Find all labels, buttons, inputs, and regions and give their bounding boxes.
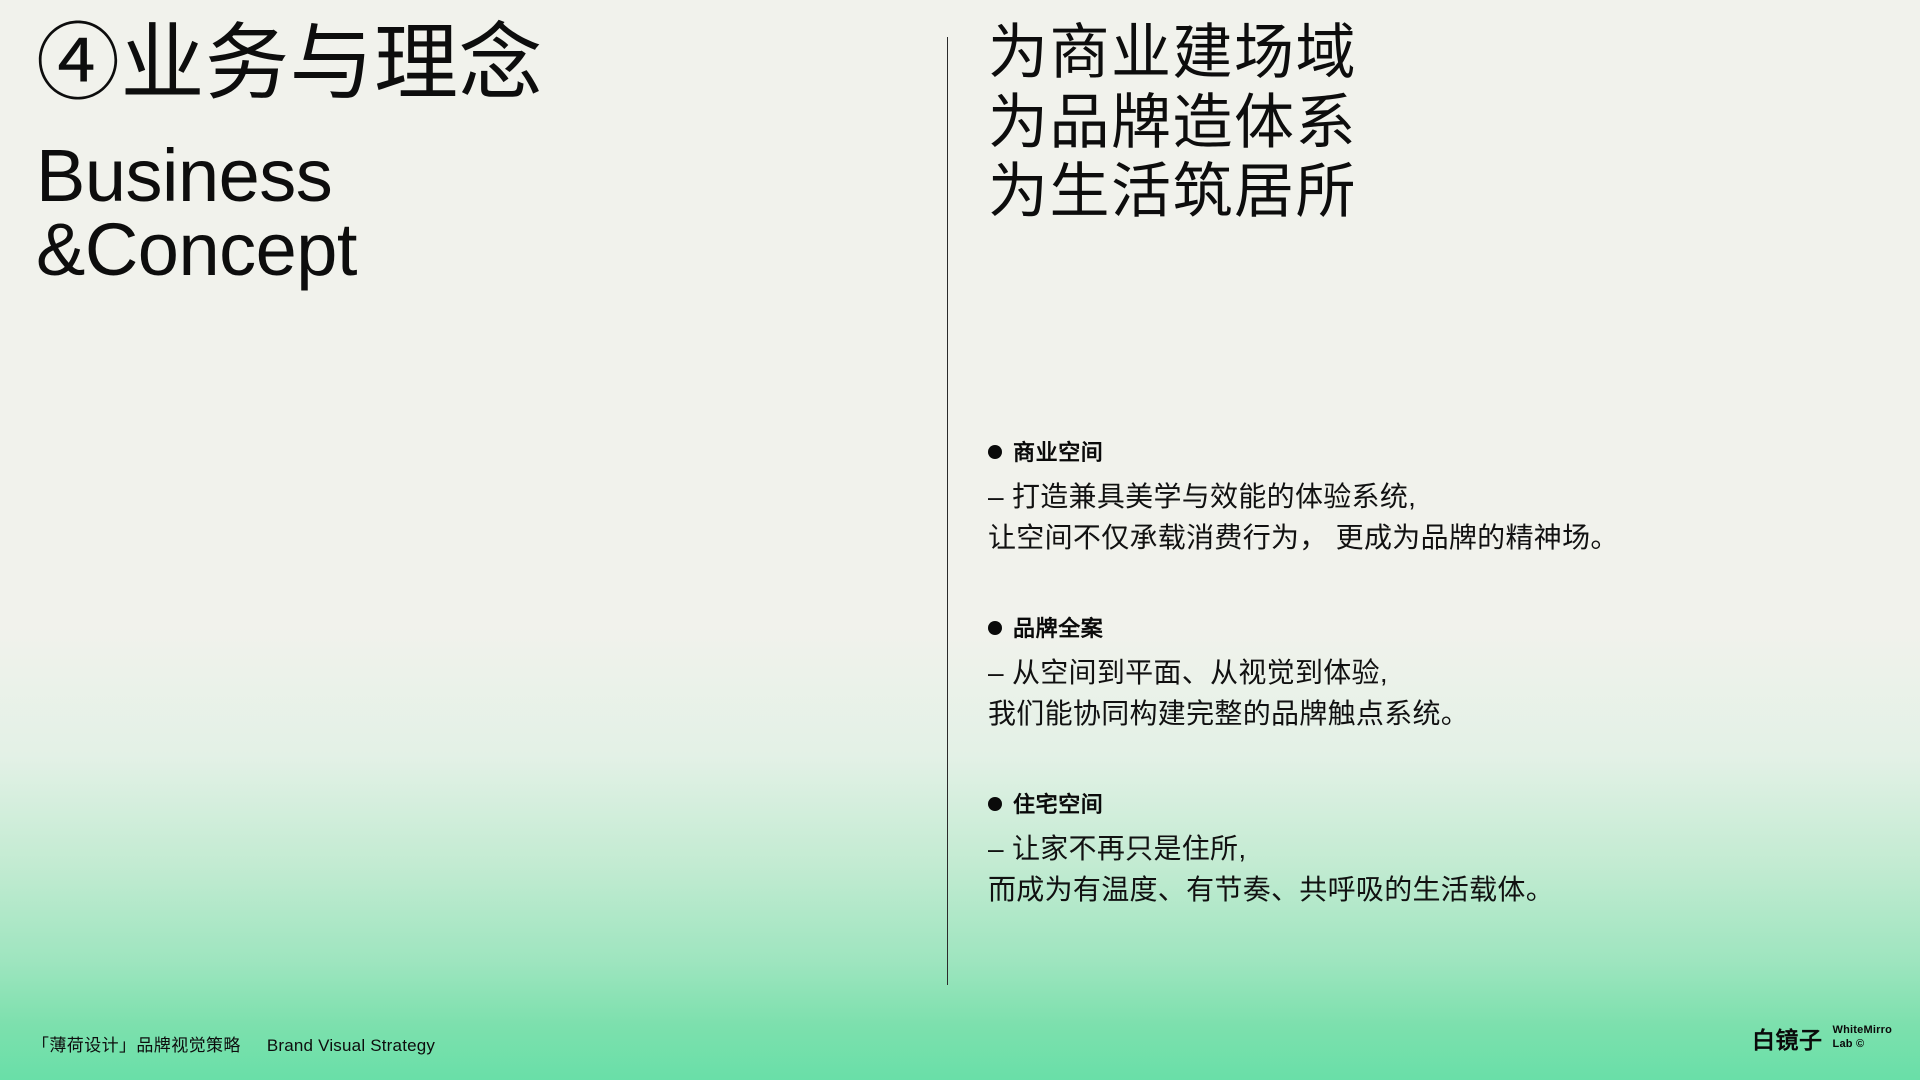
vertical-divider: [947, 37, 948, 985]
brand-logo-en-line-1: WhiteMirro: [1833, 1024, 1892, 1038]
brand-logo-cn: 白镜子: [1752, 1021, 1823, 1055]
headline-block: 为商业建场域 为品牌造体系 为生活筑居所: [988, 18, 1888, 227]
section-body-line-1: – 从空间到平面、从视觉到体验,: [988, 652, 1898, 693]
brand-logo: 白镜子 WhiteMirro Lab ©: [1752, 1021, 1892, 1055]
footer-credit-en: Brand Visual Strategy: [267, 1036, 435, 1056]
sections-list: 商业空间 – 打造兼具美学与效能的体验系统, 让空间不仅承载消费行为， 更成为品…: [988, 435, 1898, 911]
page-title-en-line-1: Business: [36, 139, 906, 213]
headline: 为商业建场域 为品牌造体系 为生活筑居所: [988, 18, 1888, 227]
section-body-line-1: – 打造兼具美学与效能的体验系统,: [988, 476, 1898, 517]
page-title-cn: ④业务与理念: [36, 18, 906, 109]
slide-canvas: ④业务与理念 Business &Concept 为商业建场域 为品牌造体系 为…: [0, 0, 1920, 1080]
section-residential-space: 住宅空间 – 让家不再只是住所, 而成为有温度、有节奏、共呼吸的生活载体。: [988, 787, 1898, 911]
section-body-line-2: 让空间不仅承载消费行为， 更成为品牌的精神场。: [988, 517, 1898, 558]
section-heading: 商业空间: [988, 435, 1898, 467]
section-commercial-space: 商业空间 – 打造兼具美学与效能的体验系统, 让空间不仅承载消费行为， 更成为品…: [988, 435, 1898, 559]
section-body-line-1: – 让家不再只是住所,: [988, 828, 1898, 869]
section-body-line-2: 而成为有温度、有节奏、共呼吸的生活载体。: [988, 869, 1898, 910]
bullet-dot-icon: [988, 445, 1002, 459]
brand-logo-en-line-2: Lab ©: [1833, 1038, 1892, 1052]
section-body: – 让家不再只是住所, 而成为有温度、有节奏、共呼吸的生活载体。: [988, 828, 1898, 911]
page-title-en: Business &Concept: [36, 139, 906, 287]
brand-logo-en: WhiteMirro Lab ©: [1833, 1024, 1892, 1051]
left-title-block: ④业务与理念 Business &Concept: [36, 18, 906, 287]
bullet-dot-icon: [988, 797, 1002, 811]
page-title-en-line-2: &Concept: [36, 213, 906, 287]
section-heading: 品牌全案: [988, 611, 1898, 643]
headline-line-2: 为品牌造体系: [988, 88, 1888, 158]
footer-credit-cn: 「薄荷设计」品牌视觉策略: [32, 1031, 241, 1056]
headline-line-3: 为生活筑居所: [988, 157, 1888, 227]
section-body: – 打造兼具美学与效能的体验系统, 让空间不仅承载消费行为， 更成为品牌的精神场…: [988, 476, 1898, 559]
section-heading-label: 品牌全案: [1013, 611, 1103, 643]
bullet-dot-icon: [988, 621, 1002, 635]
section-body-line-2: 我们能协同构建完整的品牌触点系统。: [988, 693, 1898, 734]
section-body: – 从空间到平面、从视觉到体验, 我们能协同构建完整的品牌触点系统。: [988, 652, 1898, 735]
section-heading-label: 住宅空间: [1013, 787, 1103, 819]
section-heading: 住宅空间: [988, 787, 1898, 819]
section-heading-label: 商业空间: [1013, 435, 1103, 467]
footer-credit: 「薄荷设计」品牌视觉策略 Brand Visual Strategy: [32, 1031, 435, 1056]
headline-line-1: 为商业建场域: [988, 18, 1888, 88]
section-brand-full-case: 品牌全案 – 从空间到平面、从视觉到体验, 我们能协同构建完整的品牌触点系统。: [988, 611, 1898, 735]
